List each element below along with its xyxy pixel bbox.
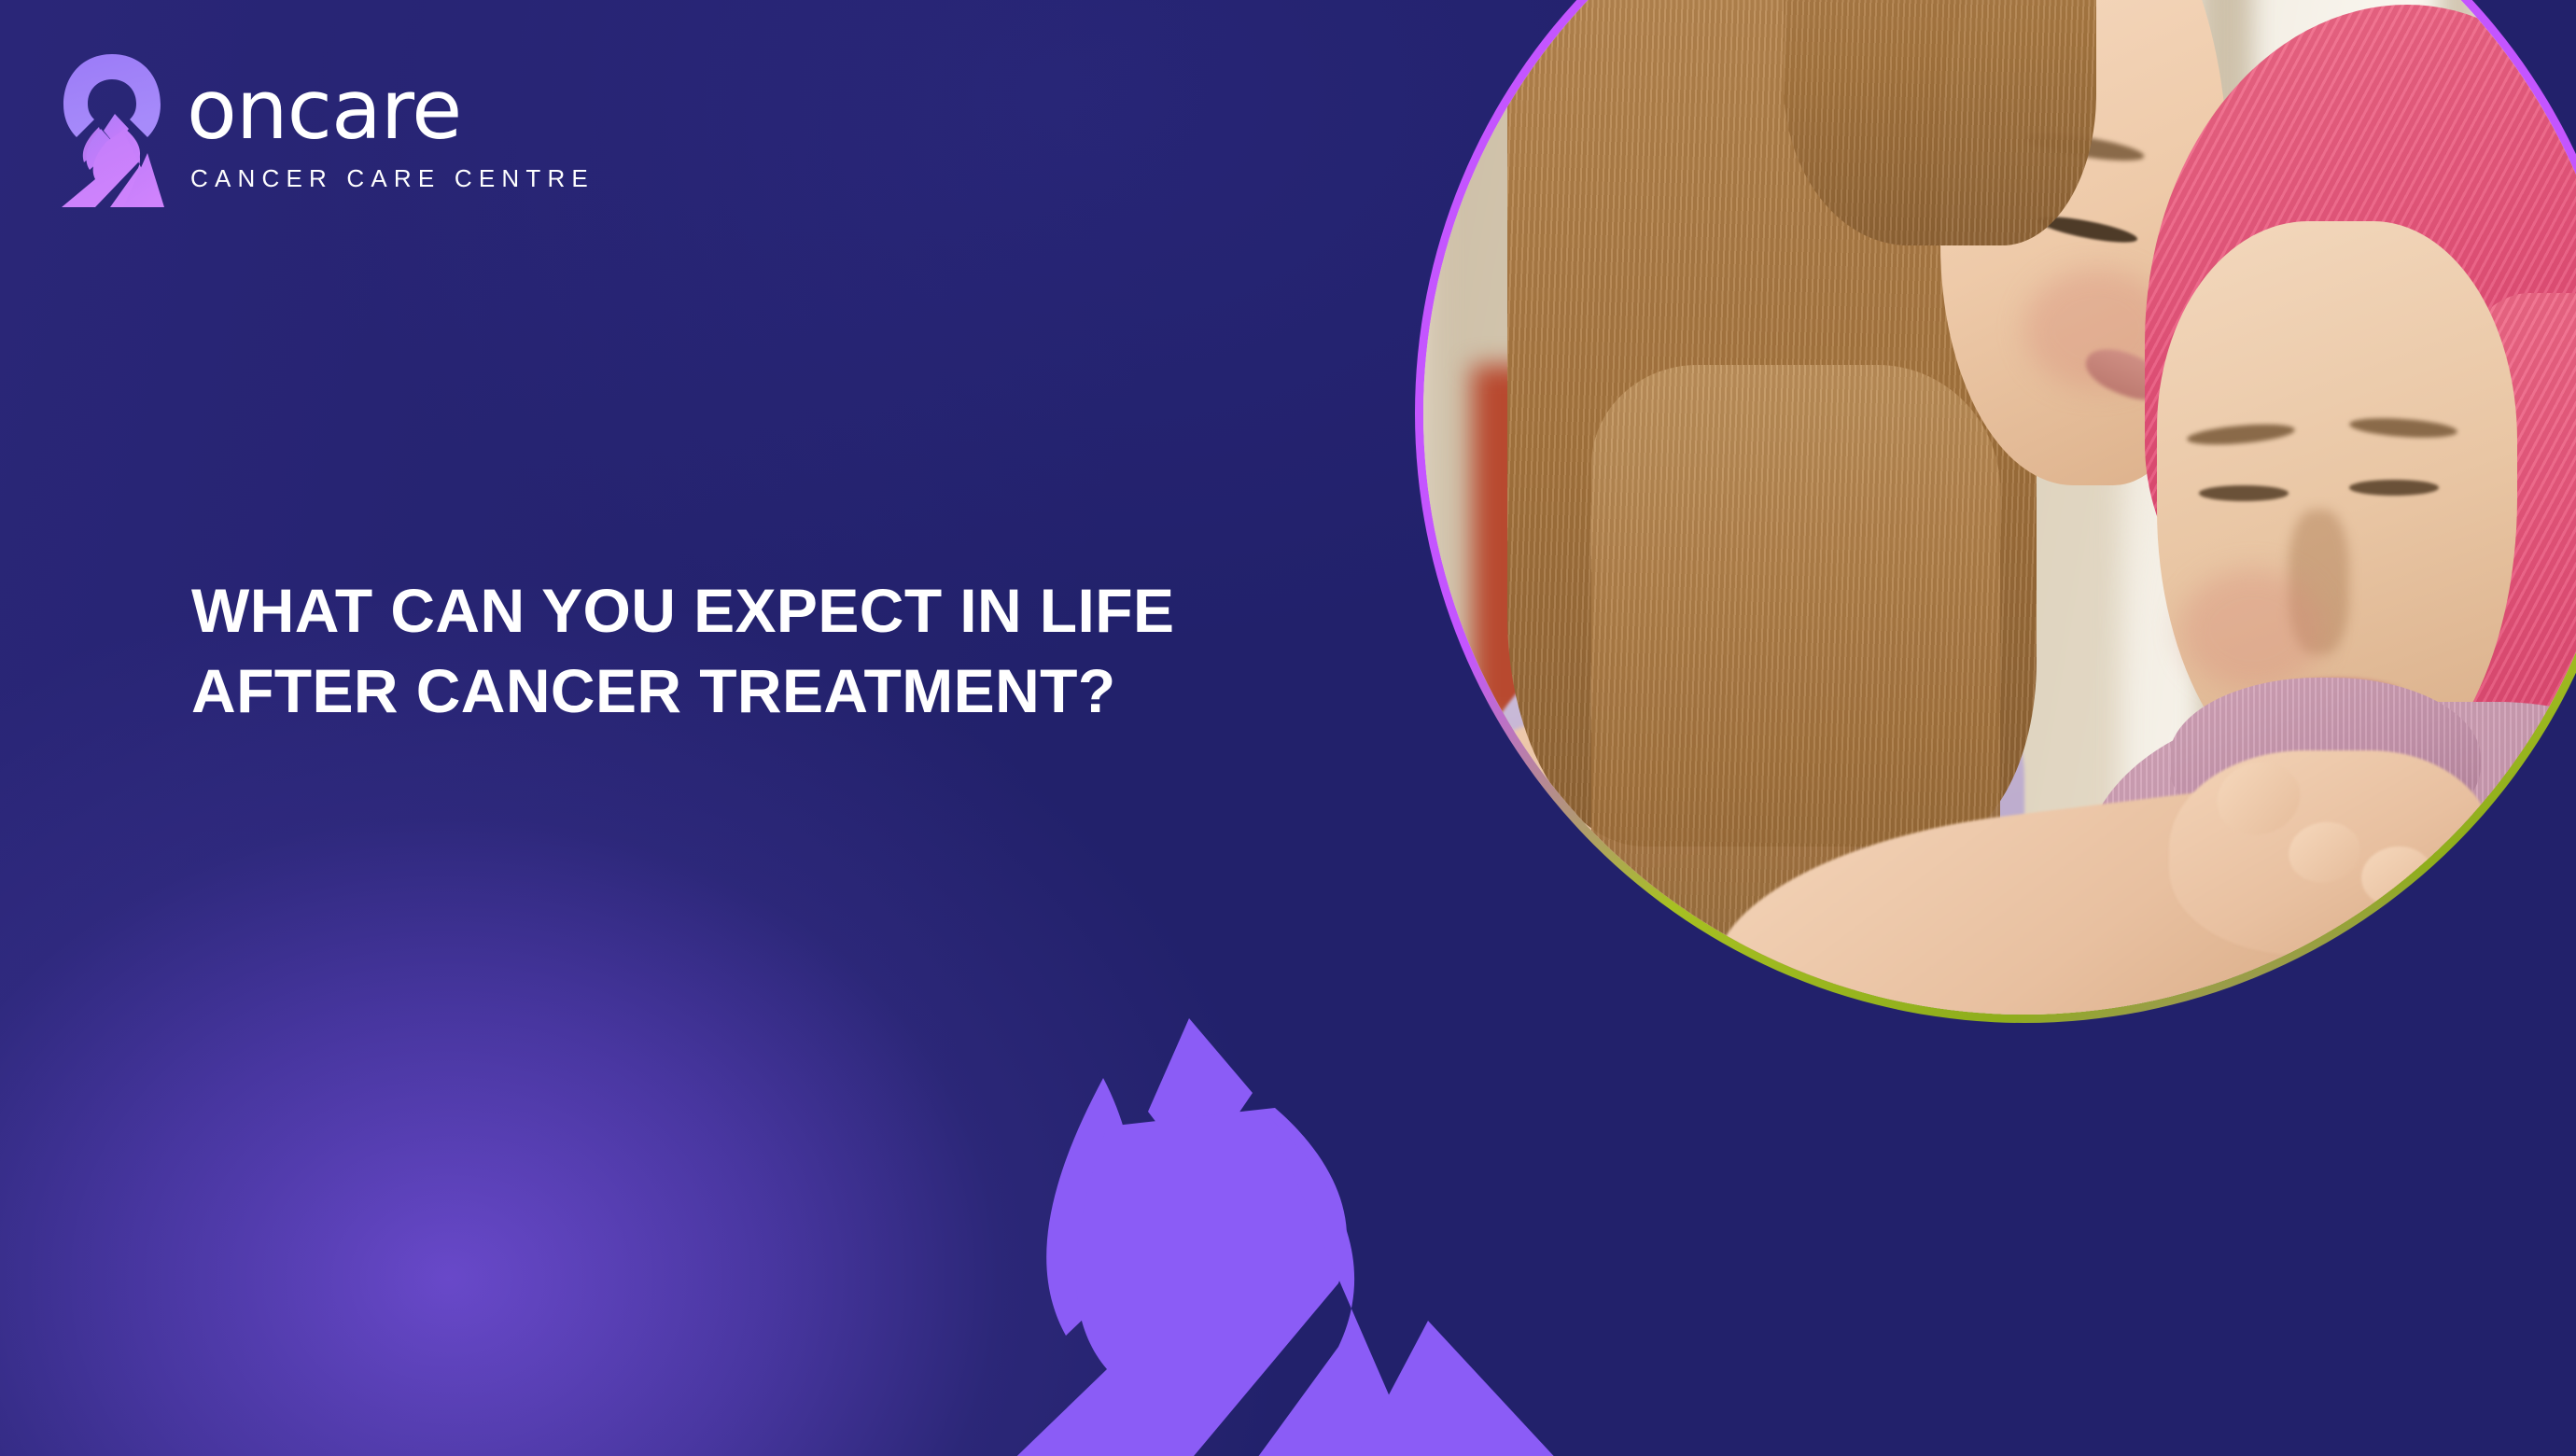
young-woman-hair-front [1784,0,2096,245]
headline: WHAT CAN YOU EXPECT IN LIFE AFTER CANCER… [191,571,1293,732]
older-woman-eye-left [2199,485,2289,501]
brand-tagline: CANCER CARE CENTRE [190,164,595,193]
awareness-ribbon-icon [58,49,166,213]
brand-wordmark: oncare [187,72,595,149]
older-woman-eye-right [2349,480,2440,496]
brand-logo-text: oncare CANCER CARE CENTRE [187,68,595,193]
older-woman-cheek [2180,569,2325,690]
headline-line-2: AFTER CANCER TREATMENT? [191,651,1293,732]
hero-photo [1423,0,2576,1015]
brand-logo[interactable]: oncare CANCER CARE CENTRE [58,49,595,213]
hero-photo-ring [1415,0,2576,1023]
slide-canvas: oncare CANCER CARE CENTRE WHAT CAN YOU E… [0,0,2576,1456]
headline-line-1: WHAT CAN YOU EXPECT IN LIFE [191,571,1293,651]
